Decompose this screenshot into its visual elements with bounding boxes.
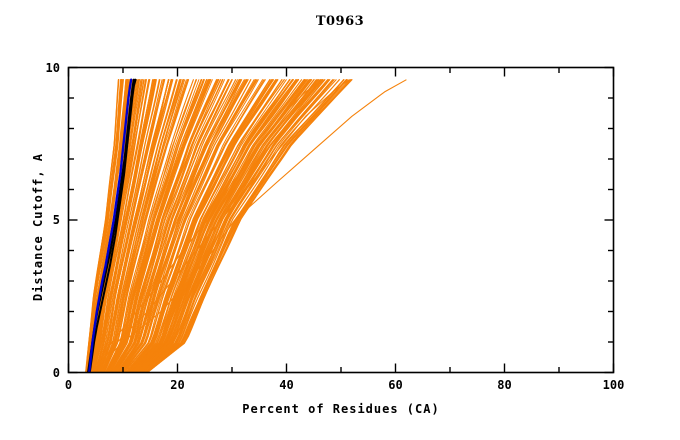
x-tick-label: 40 (279, 378, 293, 392)
y-tick-label: 10 (46, 61, 60, 75)
x-tick-label: 100 (603, 378, 625, 392)
y-tick-label: 5 (53, 213, 60, 227)
plot-canvas (0, 0, 680, 440)
data-curves (86, 80, 407, 373)
y-tick-label: 0 (53, 366, 60, 380)
plot-figure: T0963 Distance Cutoff, A Percent of Resi… (0, 0, 680, 440)
x-tick-label: 60 (388, 378, 402, 392)
x-tick-label: 20 (170, 378, 184, 392)
x-tick-label: 0 (65, 378, 72, 392)
x-tick-label: 80 (497, 378, 511, 392)
